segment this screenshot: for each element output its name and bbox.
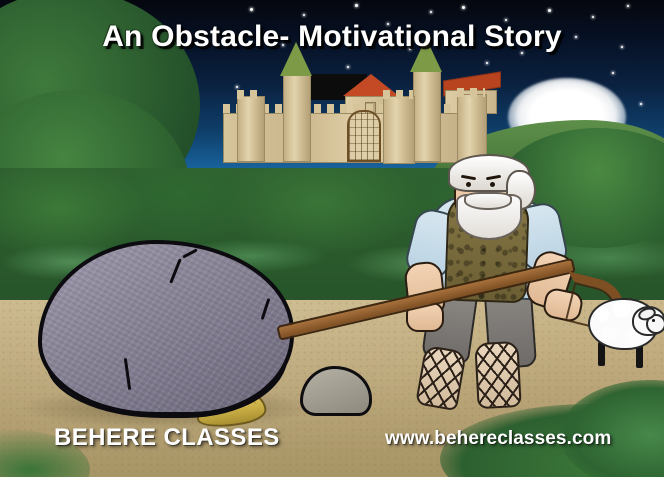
star <box>462 6 465 9</box>
boulder-body <box>38 240 294 416</box>
castle-tower-gatehouse <box>383 96 415 164</box>
castle <box>195 52 495 164</box>
star <box>430 11 432 13</box>
man-eye-right <box>490 182 495 187</box>
star <box>592 16 594 18</box>
sheep <box>588 286 664 374</box>
sheep-eye <box>652 319 655 322</box>
castle-tower-left <box>237 96 265 162</box>
star <box>355 4 358 7</box>
star <box>548 9 551 12</box>
castle-tower-right-crenels <box>457 88 485 97</box>
star <box>627 5 629 7</box>
man-sandal-left <box>415 345 467 411</box>
castle-tower-left-crenels <box>237 90 263 99</box>
website-url[interactable]: www.behereclasses.com <box>385 428 611 450</box>
castle-gatehouse-crenels <box>383 90 413 99</box>
man-eye-left <box>466 182 471 187</box>
man-sandal-right <box>474 341 521 409</box>
castle-tower-spire-right <box>413 70 441 162</box>
brand-label: BEHERE CLASSES <box>54 424 280 452</box>
star <box>640 103 642 105</box>
castle-gate <box>347 110 381 162</box>
man-moustache <box>464 192 512 210</box>
star <box>303 14 305 16</box>
illustration-scene: An Obstacle- Motivational Story BEHERE C… <box>0 0 664 477</box>
star <box>250 8 253 11</box>
castle-tower-spire-left <box>283 74 311 162</box>
boulder <box>38 240 286 418</box>
star <box>612 72 614 74</box>
page-title: An Obstacle- Motivational Story <box>0 20 664 54</box>
